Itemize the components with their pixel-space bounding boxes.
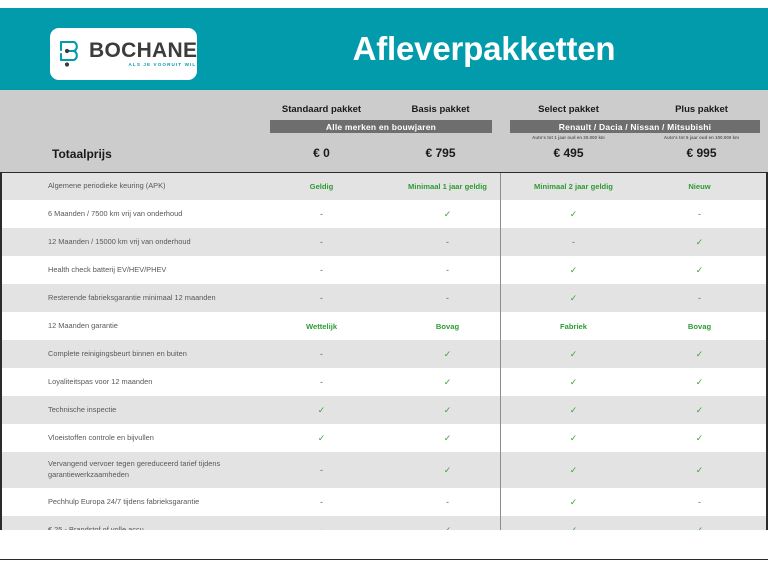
table-row: 12 Maanden / 15000 km vrij van onderhoud…	[0, 228, 768, 256]
value-select-dash: -	[514, 237, 633, 248]
value-text: Wettelijk	[306, 322, 337, 331]
value-standaard-dash: -	[262, 377, 381, 388]
package-note-plus: Auto's tot 5 jaar oud en 100.000 km	[635, 135, 768, 140]
dash-icon: -	[572, 237, 575, 247]
value-plus-check: ✓	[633, 265, 766, 276]
value-standaard-text: Wettelijk	[262, 322, 381, 331]
value-text: Nieuw	[688, 182, 710, 191]
check-icon: ✓	[570, 405, 578, 415]
package-title-plus: Plus pakket	[635, 104, 768, 115]
brand-bar-all-brands: Alle merken en bouwjaren	[270, 120, 492, 133]
value-select-text: Minimaal 2 jaar geldig	[514, 182, 633, 191]
value-select-check: ✓	[514, 377, 633, 388]
feature-values: ---✓	[262, 237, 768, 248]
value-text: Geldig	[310, 182, 334, 191]
feature-values: --✓-	[262, 497, 768, 508]
table-row: Loyaliteitspas voor 12 maanden-✓✓✓	[0, 368, 768, 396]
check-icon: ✓	[444, 433, 452, 443]
afleverpakketten-page: Afleverpakketten BOCHANE ALS JE VOORUIT …	[0, 0, 768, 576]
price-select: € 495	[502, 146, 635, 160]
check-icon: ✓	[696, 433, 704, 443]
feature-values: --✓✓	[262, 265, 768, 276]
dash-icon: -	[698, 209, 701, 219]
package-prices-right: € 495 € 995	[502, 146, 768, 160]
table-footer-spacer	[0, 530, 768, 560]
value-text: Minimaal 1 jaar geldig	[408, 182, 487, 191]
value-basis-dash: -	[381, 237, 514, 248]
table-row: Pechhulp Europa 24/7 tijdens fabrieksgar…	[0, 488, 768, 516]
package-title-select: Select pakket	[502, 104, 635, 115]
feature-label: Loyaliteitspas voor 12 maanden	[0, 377, 262, 388]
check-icon: ✓	[570, 465, 578, 475]
dash-icon: -	[320, 209, 323, 219]
dash-icon: -	[446, 293, 449, 303]
value-select-check: ✓	[514, 405, 633, 416]
dash-icon: -	[446, 265, 449, 275]
value-select-check: ✓	[514, 293, 633, 304]
feature-label: Vloeistoffen controle en bijvullen	[0, 433, 262, 444]
check-icon: ✓	[570, 265, 578, 275]
table-row: Technische inspectie✓✓✓✓	[0, 396, 768, 424]
package-notes-right: Auto's tot 1 jaar oud en 20.000 km Auto'…	[502, 135, 768, 140]
table-edge-left	[0, 172, 2, 560]
check-icon: ✓	[570, 349, 578, 359]
value-text: Minimaal 2 jaar geldig	[534, 182, 613, 191]
value-text: Bovag	[436, 322, 459, 331]
feature-label: Vervangend vervoer tegen gereduceerd tar…	[0, 459, 262, 480]
value-text: Fabriek	[560, 322, 587, 331]
check-icon: ✓	[696, 237, 704, 247]
brand-wordmark: BOCHANE	[89, 40, 197, 61]
dash-icon: -	[320, 265, 323, 275]
dash-icon: -	[698, 497, 701, 507]
dash-icon: -	[698, 293, 701, 303]
feature-label: Health check batterij EV/HEV/PHEV	[0, 265, 262, 276]
value-select-check: ✓	[514, 349, 633, 360]
table-row: 12 Maanden garantieWettelijkBovagFabriek…	[0, 312, 768, 340]
brand-logo: BOCHANE ALS JE VOORUIT WIL	[50, 28, 197, 80]
value-plus-text: Nieuw	[633, 182, 766, 191]
check-icon: ✓	[318, 405, 326, 415]
total-price-label: Totaalprijs	[52, 147, 112, 161]
value-plus-text: Bovag	[633, 322, 766, 331]
dash-icon: -	[320, 465, 323, 475]
value-plus-check: ✓	[633, 465, 766, 476]
feature-values: WettelijkBovagFabriekBovag	[262, 322, 768, 331]
feature-label: Complete reinigingsbeurt binnen en buite…	[0, 349, 262, 360]
table-row: 6 Maanden / 7500 km vrij van onderhoud-✓…	[0, 200, 768, 228]
package-prices-left: € 0 € 795	[262, 146, 500, 160]
package-group-all-brands: Standaard pakket Basis pakket Alle merke…	[262, 90, 500, 172]
dash-icon: -	[446, 237, 449, 247]
check-icon: ✓	[570, 377, 578, 387]
table-row: Vloeistoffen controle en bijvullen✓✓✓✓	[0, 424, 768, 452]
value-select-check: ✓	[514, 209, 633, 220]
price-plus: € 995	[635, 146, 768, 160]
table-row: Algemene periodieke keuring (APK)GeldigM…	[0, 172, 768, 200]
brand-bar-renault-group: Renault / Dacia / Nissan / Mitsubishi	[510, 120, 760, 133]
value-basis-check: ✓	[381, 405, 514, 416]
value-basis-check: ✓	[381, 209, 514, 220]
dash-icon: -	[320, 349, 323, 359]
value-text: Bovag	[688, 322, 711, 331]
value-plus-check: ✓	[633, 349, 766, 360]
check-icon: ✓	[696, 349, 704, 359]
group-divider	[500, 172, 501, 560]
value-basis-dash: -	[381, 265, 514, 276]
package-title-standaard: Standaard pakket	[262, 104, 381, 115]
table-row: Vervangend vervoer tegen gereduceerd tar…	[0, 452, 768, 488]
check-icon: ✓	[570, 497, 578, 507]
value-standaard-check: ✓	[262, 405, 381, 416]
value-standaard-dash: -	[262, 209, 381, 220]
package-group-renault-group: Select pakket Plus pakket Renault / Daci…	[502, 90, 768, 172]
value-basis-check: ✓	[381, 349, 514, 360]
value-basis-dash: -	[381, 293, 514, 304]
value-standaard-text: Geldig	[262, 182, 381, 191]
price-basis: € 795	[381, 146, 500, 160]
check-icon: ✓	[570, 433, 578, 443]
check-icon: ✓	[696, 465, 704, 475]
feature-values: --✓-	[262, 293, 768, 304]
check-icon: ✓	[696, 377, 704, 387]
check-icon: ✓	[570, 293, 578, 303]
feature-values: -✓✓✓	[262, 349, 768, 360]
check-icon: ✓	[696, 405, 704, 415]
value-plus-dash: -	[633, 293, 766, 304]
feature-label: Algemene periodieke keuring (APK)	[0, 181, 262, 192]
value-standaard-dash: -	[262, 237, 381, 248]
value-basis-check: ✓	[381, 433, 514, 444]
value-basis-check: ✓	[381, 377, 514, 388]
feature-values: ✓✓✓✓	[262, 433, 768, 444]
table-row: Health check batterij EV/HEV/PHEV--✓✓	[0, 256, 768, 284]
value-select-check: ✓	[514, 465, 633, 476]
check-icon: ✓	[444, 349, 452, 359]
price-standaard: € 0	[262, 146, 381, 160]
feature-values: -✓✓✓	[262, 377, 768, 388]
feature-label: 12 Maanden / 15000 km vrij van onderhoud	[0, 237, 262, 248]
brand-tagline: ALS JE VOORUIT WIL	[129, 63, 197, 68]
value-plus-dash: -	[633, 209, 766, 220]
value-plus-check: ✓	[633, 237, 766, 248]
dash-icon: -	[320, 377, 323, 387]
value-select-check: ✓	[514, 433, 633, 444]
check-icon: ✓	[318, 433, 326, 443]
table-row: Resterende fabrieksgarantie minimaal 12 …	[0, 284, 768, 312]
feature-label: Pechhulp Europa 24/7 tijdens fabrieksgar…	[0, 497, 262, 508]
value-plus-check: ✓	[633, 433, 766, 444]
feature-label: Resterende fabrieksgarantie minimaal 12 …	[0, 293, 262, 304]
value-standaard-dash: -	[262, 465, 381, 476]
value-plus-check: ✓	[633, 405, 766, 416]
column-header-band: Standaard pakket Basis pakket Alle merke…	[0, 90, 768, 172]
feature-values: -✓✓-	[262, 209, 768, 220]
feature-label: Technische inspectie	[0, 405, 262, 416]
value-plus-check: ✓	[633, 377, 766, 388]
check-icon: ✓	[444, 377, 452, 387]
value-basis-text: Bovag	[381, 322, 514, 331]
package-title-basis: Basis pakket	[381, 104, 500, 115]
check-icon: ✓	[696, 265, 704, 275]
package-note-select: Auto's tot 1 jaar oud en 20.000 km	[502, 135, 635, 140]
value-standaard-dash: -	[262, 497, 381, 508]
value-standaard-check: ✓	[262, 433, 381, 444]
value-select-text: Fabriek	[514, 322, 633, 331]
check-icon: ✓	[570, 209, 578, 219]
value-standaard-dash: -	[262, 265, 381, 276]
bochane-b-mark-icon	[58, 39, 84, 69]
check-icon: ✓	[444, 209, 452, 219]
feature-comparison-table: Algemene periodieke keuring (APK)GeldigM…	[0, 172, 768, 544]
value-standaard-dash: -	[262, 349, 381, 360]
dash-icon: -	[320, 237, 323, 247]
check-icon: ✓	[444, 405, 452, 415]
feature-label: 12 Maanden garantie	[0, 321, 262, 332]
value-plus-dash: -	[633, 497, 766, 508]
dash-icon: -	[320, 497, 323, 507]
value-basis-dash: -	[381, 497, 514, 508]
dash-icon: -	[446, 497, 449, 507]
dash-icon: -	[320, 293, 323, 303]
package-titles-right: Select pakket Plus pakket	[502, 104, 768, 115]
table-row: Complete reinigingsbeurt binnen en buite…	[0, 340, 768, 368]
value-standaard-dash: -	[262, 293, 381, 304]
value-select-check: ✓	[514, 265, 633, 276]
feature-values: GeldigMinimaal 1 jaar geldigMinimaal 2 j…	[262, 182, 768, 191]
check-icon: ✓	[444, 465, 452, 475]
feature-values: -✓✓✓	[262, 465, 768, 476]
package-titles-left: Standaard pakket Basis pakket	[262, 104, 500, 115]
value-basis-text: Minimaal 1 jaar geldig	[381, 182, 514, 191]
feature-values: ✓✓✓✓	[262, 405, 768, 416]
value-select-check: ✓	[514, 497, 633, 508]
feature-label: 6 Maanden / 7500 km vrij van onderhoud	[0, 209, 262, 220]
value-basis-check: ✓	[381, 465, 514, 476]
